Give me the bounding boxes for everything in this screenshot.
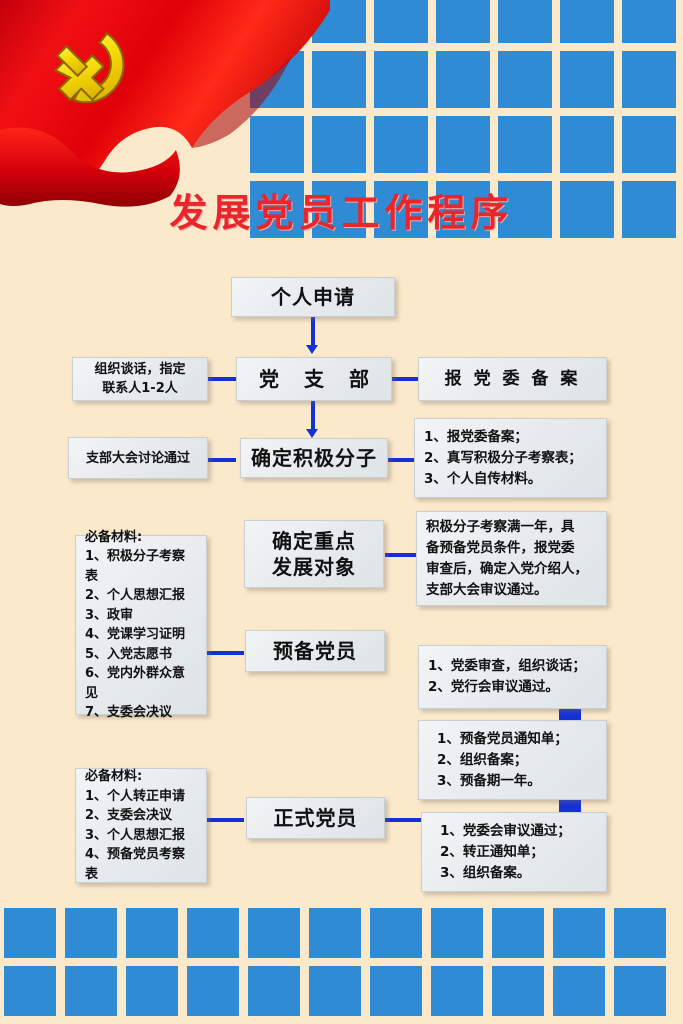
decorative-square	[4, 908, 56, 958]
connector-target-to-description	[385, 553, 420, 557]
decorative-square	[492, 908, 544, 958]
decorative-square	[431, 966, 483, 1016]
decorative-square	[560, 0, 614, 43]
decorative-square	[309, 908, 361, 958]
decorative-square	[622, 0, 676, 43]
decorative-square	[622, 51, 676, 108]
note-required-materials-full-member[interactable]: 必备材料: 1、个人转正申请 2、支委会决议 3、个人思想汇报 4、预备党员考察…	[75, 768, 207, 883]
node-full-member[interactable]: 正式党员	[246, 797, 385, 839]
node-probationary-member[interactable]: 预备党员	[245, 630, 385, 672]
decorative-square	[498, 51, 552, 108]
decorative-square	[431, 908, 483, 958]
decorative-square	[248, 966, 300, 1016]
connector-branch-to-activist	[311, 401, 315, 431]
node-confirm-activist[interactable]: 确定积极分子	[240, 438, 388, 478]
decorative-square	[187, 966, 239, 1016]
decorative-square	[4, 966, 56, 1016]
decorative-square	[248, 908, 300, 958]
connector-application-to-branch	[311, 315, 315, 347]
connector-materials2-to-full	[206, 818, 244, 822]
connector-branch-to-report	[388, 377, 418, 381]
decorative-square	[560, 51, 614, 108]
connector-meeting-to-activist	[208, 458, 236, 462]
decorative-square	[65, 908, 117, 958]
decorative-square	[498, 0, 552, 43]
decorative-square	[65, 966, 117, 1016]
decorative-square	[187, 908, 239, 958]
note-key-target-description[interactable]: 积极分子考察满一年，具 备预备党员条件，报党委 审查后，确定入党介绍人， 支部大…	[416, 511, 607, 606]
note-probationary-review[interactable]: 1、党委审查，组织谈话； 2、党行会审议通过。	[418, 645, 607, 709]
node-confirm-key-target[interactable]: 确定重点 发展对象	[244, 520, 384, 588]
decorative-square	[126, 966, 178, 1016]
decorative-square-grid-bottom	[0, 908, 683, 1024]
poster-root: 发展党员工作程序 个人申请 党 支 部 确定积极分子 确定重点 发展对象 预备党…	[0, 0, 683, 1024]
decorative-square	[560, 116, 614, 173]
note-branch-meeting-discussion[interactable]: 支部大会讨论通过	[68, 437, 208, 479]
decorative-square	[553, 966, 605, 1016]
decorative-square	[309, 966, 361, 1016]
connector-talk-to-branch	[208, 377, 236, 381]
decorative-square	[374, 0, 428, 43]
decorative-square	[622, 116, 676, 173]
party-flag-banner	[0, 0, 330, 215]
decorative-square	[126, 908, 178, 958]
decorative-square	[614, 908, 666, 958]
note-required-materials-activist[interactable]: 必备材料: 1、积极分子考察表 2、个人思想汇报 3、政审 4、党课学习证明 5…	[75, 535, 207, 715]
connector-materials-to-probationary	[206, 651, 244, 655]
note-report-party-committee[interactable]: 报 党 委 备 案	[418, 357, 607, 401]
note-activist-requirements[interactable]: 1、报党委备案； 2、真写积极分子考察表； 3、个人自传材料。	[414, 418, 607, 498]
arrow-down-icon-2	[306, 429, 318, 438]
decorative-square	[436, 116, 490, 173]
note-probationary-notice[interactable]: 1、预备党员通知单； 2、组织备案； 3、预备期一年。	[418, 720, 607, 800]
decorative-square	[492, 966, 544, 1016]
note-full-member-steps[interactable]: 1、党委会审议通过； 2、转正通知单； 3、组织备案。	[421, 812, 607, 892]
node-personal-application[interactable]: 个人申请	[231, 277, 395, 317]
decorative-square	[374, 51, 428, 108]
decorative-square	[436, 0, 490, 43]
decorative-square	[370, 966, 422, 1016]
node-party-branch[interactable]: 党 支 部	[236, 357, 392, 401]
decorative-square	[498, 116, 552, 173]
decorative-square	[370, 908, 422, 958]
page-title: 发展党员工作程序	[0, 190, 683, 236]
arrow-down-icon-1	[306, 345, 318, 354]
decorative-square	[374, 116, 428, 173]
connector-tab-full-member	[559, 799, 581, 812]
decorative-square	[436, 51, 490, 108]
note-organization-talk[interactable]: 组织谈话，指定 联系人1-2人	[72, 357, 208, 401]
connector-full-to-steps	[385, 818, 422, 822]
decorative-square	[614, 966, 666, 1016]
decorative-square	[553, 908, 605, 958]
